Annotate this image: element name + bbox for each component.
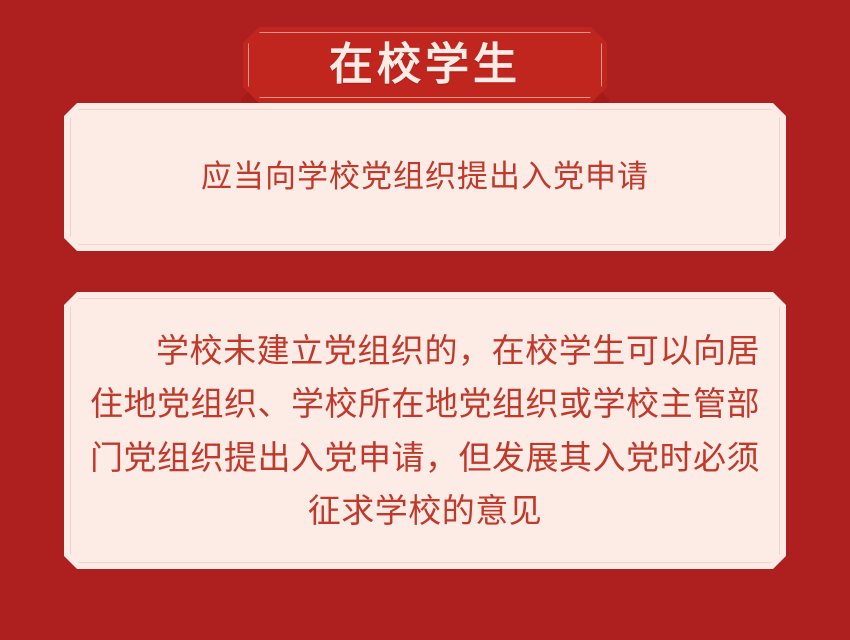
content-card-primary: 应当向学校党组织提出入党申请: [64, 103, 786, 251]
title-banner: 在校学生: [243, 27, 607, 103]
card-secondary-paragraph: 学校未建立党组织的，在校学生可以向居住地党组织、学校所在地党组织或学校主管部门党…: [90, 324, 760, 538]
card-primary-text: 应当向学校党组织提出入党申请: [64, 103, 786, 251]
card-secondary-text: 学校未建立党组织的，在校学生可以向居住地党组织、学校所在地党组织或学校主管部门党…: [64, 292, 786, 569]
content-card-secondary: 学校未建立党组织的，在校学生可以向居住地党组织、学校所在地党组织或学校主管部门党…: [64, 292, 786, 569]
poster-root: 在校学生 应当向学校党组织提出入党申请 学校未建立党组织的，在校学生可以向居住地…: [0, 0, 850, 640]
banner-title-text: 在校学生: [243, 27, 607, 103]
